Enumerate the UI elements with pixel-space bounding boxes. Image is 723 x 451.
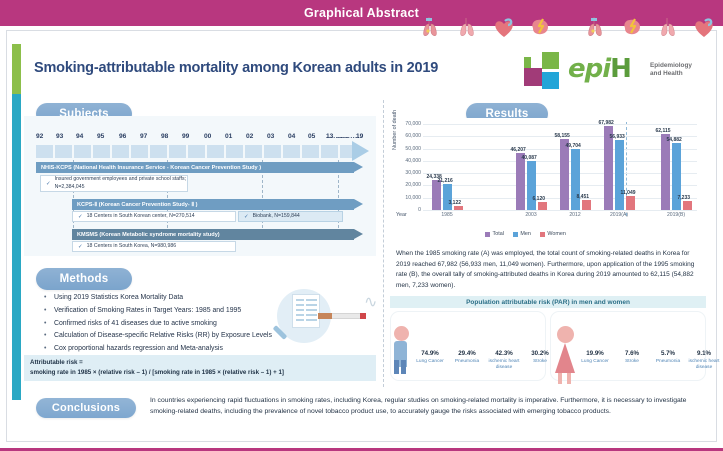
lung-icon [583, 16, 607, 38]
chart-x-tick-label: 2019(B) [662, 212, 690, 218]
legend-swatch-women [540, 232, 545, 237]
par-card-men [390, 311, 546, 381]
year-label: 93 [56, 133, 63, 140]
legend-item-women: Women [540, 231, 566, 237]
chart-x-tick-label: 2019(A) [605, 212, 633, 218]
year-label: 97 [140, 133, 147, 140]
chart-y-tick-label: 10,000 [396, 195, 421, 201]
methods-item-text: Calculation of Disease-specific Relative… [54, 330, 272, 343]
chart-bar-label: 21,216 [438, 178, 453, 184]
timeline-tick [93, 145, 110, 158]
chart-bar-men [571, 149, 580, 210]
accent-bar-green [12, 44, 21, 94]
chart-gridline [423, 210, 697, 211]
brain-icon [528, 16, 552, 38]
chart-gridline [423, 124, 697, 125]
study-detail-text: Insured government employees and private… [55, 176, 187, 190]
timeline-tick [131, 145, 148, 158]
legend-label-total: Total [493, 231, 504, 237]
legend-swatch-men [513, 232, 518, 237]
chart-y-axis-label: Number of death [392, 110, 398, 150]
results-paragraph: When the 1985 smoking rate (A) was emplo… [396, 249, 702, 291]
year-label: 95 [97, 133, 104, 140]
biobank-text: Biobank, N=159,844 [253, 213, 300, 220]
study-detail-text: 18 Centers in South Korea, N=980,986 [87, 243, 177, 250]
conclusions-text: In countries experiencing rapid fluctuat… [150, 396, 700, 418]
par-label-women: Stroke [615, 359, 649, 365]
par-label-women: ischemic heart disease [687, 359, 721, 371]
smoke-icon: ∿ [364, 292, 377, 311]
chart-x-tick-label: 2003 [517, 212, 545, 218]
bullet-icon: • [44, 318, 54, 331]
chart-bar-total [661, 134, 670, 210]
chart-bar-men [527, 161, 536, 210]
chart-y-tick-label: 40,000 [396, 158, 421, 164]
timeline-tick [264, 145, 281, 158]
logo-wordmark: epiH [568, 56, 631, 82]
year-label: 02 [246, 133, 253, 140]
methods-item: •Verification of Smoking Rates in Target… [44, 305, 354, 318]
par-value-men: 74.9% [413, 350, 447, 357]
par-value-men: 42.3% [487, 350, 521, 357]
cigarette-ember-icon [360, 313, 366, 319]
legend-item-men: Men [513, 231, 531, 237]
timeline-tick [36, 145, 53, 158]
chart-legend: Total Men Women [485, 231, 566, 237]
par-label-men: Lung Cancer [413, 359, 447, 365]
chart-bar-label: 6,120 [533, 196, 546, 202]
chart-bar-label: 3,122 [449, 200, 462, 206]
timeline-tick [283, 145, 300, 158]
chart-bar-label: 49,704 [566, 143, 581, 149]
chart-bar-women [626, 196, 635, 210]
chart-y-tick-label: 60,000 [396, 133, 421, 139]
bullet-icon: • [44, 330, 54, 343]
chart-bar-label: 46,207 [511, 147, 526, 153]
lung-icon [418, 16, 442, 38]
heart-icon [692, 16, 716, 38]
logo-word-h: H [610, 54, 631, 84]
chart-bar-label: 67,982 [599, 120, 614, 126]
methods-item: •Using 2019 Statistics Korea Mortality D… [44, 292, 354, 305]
timeline-tick [302, 145, 319, 158]
study-arrow-icon [354, 199, 363, 209]
check-icon: ✓ [46, 181, 51, 187]
legend-swatch-total [485, 232, 490, 237]
par-value-men: 29.4% [450, 350, 484, 357]
logo-tagline-line1: Epidemiology [650, 62, 692, 70]
par-label-women: Pneumonia [651, 359, 685, 365]
female-figure-icon [555, 326, 574, 343]
accent-bar-teal [12, 94, 21, 400]
timeline-tick [169, 145, 186, 158]
chart-bar-total [560, 139, 569, 210]
check-icon: ✓ [78, 214, 83, 220]
chart-x-tick-label: 2012 [561, 212, 589, 218]
legend-label-men: Men [520, 231, 531, 237]
par-label-men: ischemic heart disease [487, 359, 521, 371]
timeline-ticks [36, 145, 352, 158]
timeline-tick [112, 145, 129, 158]
bullet-icon: • [44, 292, 54, 305]
chart-y-tick-label: 20,000 [396, 182, 421, 188]
study-arrow-icon [354, 229, 363, 239]
methods-item: •Cox proportional hazards regression and… [44, 343, 354, 356]
lung-icon [656, 16, 680, 38]
year-label-19: 19 [356, 133, 363, 140]
legend-label-women: Women [547, 231, 565, 237]
bullet-icon: • [44, 343, 54, 356]
heart-icon [492, 16, 516, 38]
formula-line-1: Attributable risk = [30, 358, 370, 368]
chart-bar-label: 11,049 [621, 190, 636, 196]
timeline-tick [188, 145, 205, 158]
formula-line-2: smoking rate in 1985 × (relative risk – … [30, 368, 370, 378]
par-value-women: 19.9% [578, 350, 612, 357]
study-detail-box-biobank: ✓ Biobank, N=159,844 [238, 211, 343, 222]
par-heading: Population attributable risk (PAR) in me… [390, 296, 706, 308]
par-value-men: 30.2% [523, 350, 557, 357]
chart-y-tick-label: 0 [396, 207, 421, 213]
timeline-tick [150, 145, 167, 158]
chart-bar-label: 8,451 [577, 194, 590, 200]
study-detail-box-kcps2: ✓ 18 Centers in South Korean center, N=2… [72, 211, 236, 222]
brain-icon [620, 16, 644, 38]
timeline-dots-2: ..... [337, 133, 349, 140]
chart-bar-women [538, 202, 547, 210]
column-divider [383, 100, 384, 387]
par-card-women [550, 311, 706, 381]
year-label: 94 [76, 133, 83, 140]
chart-y-tick-label: 50,000 [396, 146, 421, 152]
study-detail-box-kmsms: ✓ 18 Centers in South Korea, N=980,986 [72, 241, 236, 252]
chart-y-tick-label: 70,000 [396, 121, 421, 127]
chart-bar-women [683, 201, 692, 210]
methods-item-text: Confirmed risks of 41 diseases due to ac… [54, 318, 217, 331]
methods-item: •Calculation of Disease-specific Relativ… [44, 330, 354, 343]
par-value-women: 9.1% [687, 350, 721, 357]
section-pill-methods: Methods [36, 268, 132, 290]
banner-title: Graphical Abstract [0, 0, 723, 26]
logo-word-epi: epi [568, 54, 610, 84]
chart-bar-label: 58,155 [555, 133, 570, 139]
chart-bar-women [454, 206, 463, 210]
timeline-tick [226, 145, 243, 158]
chart-y-tick-label: 30,000 [396, 170, 421, 176]
chart-x-tick-label: 1985 [433, 212, 461, 218]
chart-bar-label: 56,933 [610, 134, 625, 140]
male-figure-icon [393, 326, 409, 341]
par-value-women: 7.6% [615, 350, 649, 357]
timeline-arrow-icon [352, 141, 369, 161]
methods-item: •Confirmed risks of 41 diseases due to a… [44, 318, 354, 331]
methods-list: •Using 2019 Statistics Korea Mortality D… [44, 292, 354, 356]
timeline-tick [74, 145, 91, 158]
epih-logo: epiH Epidemiology and Health [516, 52, 706, 94]
year-label: 05 [308, 133, 315, 140]
par-value-women: 5.7% [651, 350, 685, 357]
logo-square-blue [542, 72, 559, 89]
check-icon: ✓ [78, 244, 83, 250]
timeline-tick [321, 145, 338, 158]
logo-tagline: Epidemiology and Health [650, 62, 692, 78]
year-label: 00 [204, 133, 211, 140]
study-detail-box-nhis-kcps: ✓ Insured government employees and priva… [40, 175, 188, 192]
lung-icon [455, 16, 479, 38]
timeline-tick [245, 145, 262, 158]
logo-square-green [542, 52, 559, 69]
chart-bar-total [432, 180, 441, 210]
check-icon: ✓ [244, 214, 249, 220]
year-label: 01 [225, 133, 232, 140]
par-label-women: Lung Cancer [578, 359, 612, 365]
legend-item-total: Total [485, 231, 504, 237]
chart-bar-label: 40,087 [522, 155, 537, 161]
graphical-abstract-page: Graphical Abstract Smoking-attributable … [0, 0, 723, 451]
methods-item-text: Cox proportional hazards regression and … [54, 343, 223, 356]
section-pill-conclusions: Conclusions [36, 398, 136, 418]
study-bar-kcps2: KCPS-Ⅱ (Korean Cancer Prevention Study- … [72, 199, 354, 210]
logo-tagline-line2: and Health [650, 70, 692, 78]
par-label-men: Pneumonia [450, 359, 484, 365]
par-label-men: Stroke [523, 359, 557, 365]
bullet-icon: • [44, 305, 54, 318]
chart-bar-label: 54,882 [667, 137, 682, 143]
study-bar-nhis-kcps: NHIS-KCPS (National Health Insurance Ser… [36, 162, 354, 173]
year-label: 96 [119, 133, 126, 140]
chart-bar-women [582, 200, 591, 210]
year-label: 99 [182, 133, 189, 140]
chart-bar-men [615, 140, 624, 210]
year-label-13: 13 [326, 133, 333, 140]
study-bar-kmsms: KMSMS (Korean Metabolic syndrome mortali… [72, 229, 354, 240]
page-title: Smoking-attributable mortality among Kor… [34, 60, 504, 76]
logo-square-purple [524, 68, 542, 86]
methods-item-text: Using 2019 Statistics Korea Mortality Da… [54, 292, 183, 305]
chart-bar-total [516, 153, 525, 210]
chart-bar-label: 62,115 [656, 128, 671, 134]
study-detail-text: 18 Centers in South Korean center, N=270… [87, 213, 195, 220]
timeline-tick [207, 145, 224, 158]
year-label: 92 [36, 133, 43, 140]
year-label: 03 [267, 133, 274, 140]
year-label: 04 [288, 133, 295, 140]
timeline-years: 92 93 94 95 96 97 98 99 00 01 02 03 04 0… [36, 133, 366, 145]
timeline-tick [55, 145, 72, 158]
year-label: 98 [161, 133, 168, 140]
study-arrow-icon [354, 162, 363, 172]
chart-bar-label: 7,233 [678, 195, 691, 201]
attributable-risk-formula: Attributable risk = smoking rate in 1985… [24, 355, 376, 381]
chart-plot-area: 010,00020,00030,00040,00050,00060,00070,… [423, 124, 697, 210]
methods-item-text: Verification of Smoking Rates in Target … [54, 305, 241, 318]
